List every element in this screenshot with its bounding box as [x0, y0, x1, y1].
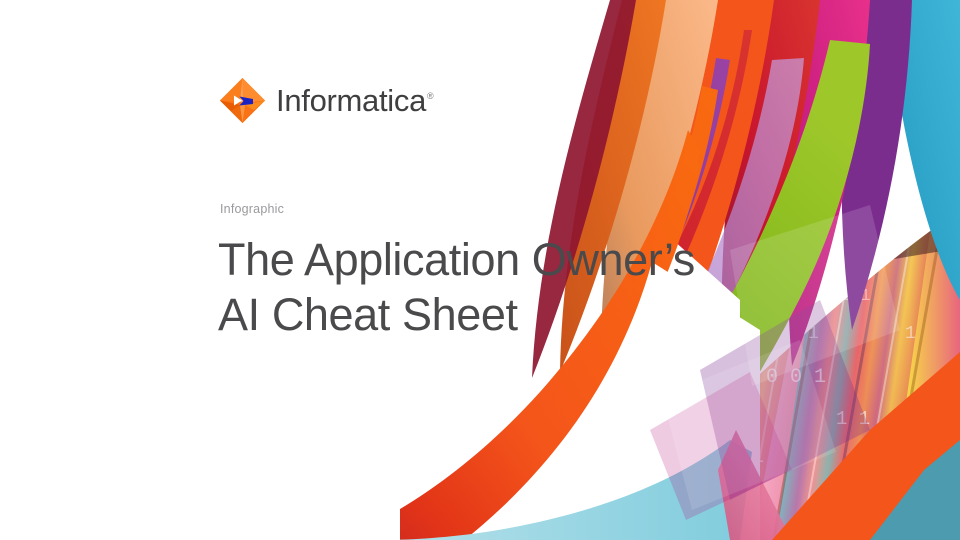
svg-text:1: 1	[905, 324, 916, 344]
eyebrow-label: Infographic	[220, 203, 284, 216]
svg-text:1 1: 1 1	[832, 249, 863, 268]
svg-text:1 1: 1 1	[700, 484, 734, 506]
svg-text:1 1: 1 1	[840, 287, 871, 306]
informatica-wordmark: Informatica®	[276, 85, 434, 116]
svg-text:0 1 1: 0 1 1	[578, 484, 638, 507]
informatica-logo-mark	[219, 77, 266, 124]
informatica-logo: Informatica®	[219, 76, 434, 124]
svg-text:1 1 1: 1 1 1	[804, 201, 855, 220]
svg-text:1 1 1: 1 1 1	[520, 520, 574, 540]
wordmark-text: Informatica	[276, 83, 426, 118]
svg-text:1 1 0 0 1 1: 1 1 0 0 1 1	[632, 446, 764, 469]
svg-text:1 1: 1 1	[700, 209, 731, 228]
trademark-icon: ®	[427, 91, 434, 101]
svg-text:1 1: 1 1	[710, 520, 742, 540]
page-title-line-1: The Application Owner’s	[218, 232, 778, 287]
binary-streak-field: 1 1 1 1 1 1 0 1 0 1 1 0 1 1 0 1 1 1 0 0 …	[520, 145, 960, 540]
svg-text:1: 1	[665, 408, 677, 431]
page-title-line-2: AI Cheat Sheet	[218, 287, 778, 342]
svg-text:1 1 0 0 1: 1 1 0 0 1	[718, 366, 826, 389]
page-title: The Application Owner’s AI Cheat Sheet	[218, 232, 778, 342]
svg-text:1 1: 1 1	[836, 408, 870, 430]
slide-canvas: 1 1 1 1 1 1 0 1 0 1 1 0 1 1 0 1 1 1 0 0 …	[0, 0, 960, 540]
